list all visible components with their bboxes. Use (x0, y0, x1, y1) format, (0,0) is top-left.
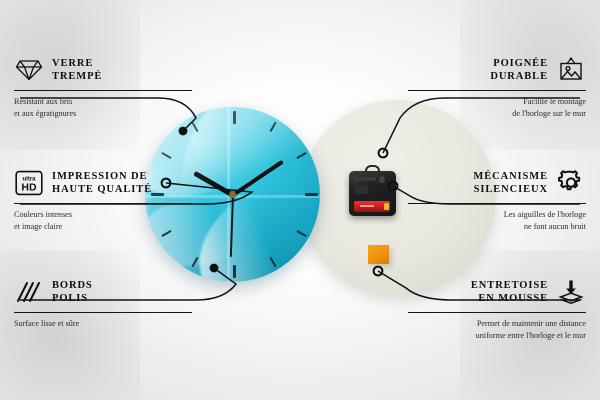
feature-title: POIGNÉE DURABLE (490, 57, 548, 83)
feature-mecanisme-silencieux: MÉCANISME SILENCIEUX Les aiguilles de l'… (408, 168, 586, 232)
foam-spacer (368, 245, 389, 264)
feature-impression-haute-qualite: ultra HD IMPRESSION DE HAUTE QUALITÉ Cou… (14, 168, 192, 232)
feature-header: POIGNÉE DURABLE (408, 55, 586, 85)
feature-header: VERRE TREMPÉ (14, 55, 192, 85)
feature-description: Les aiguilles de l'horloge ne font aucun… (408, 209, 586, 232)
battery-positive-terminal (384, 203, 389, 210)
feature-title: IMPRESSION DE HAUTE QUALITÉ (52, 170, 152, 196)
feature-divider (408, 90, 586, 91)
clock-movement (349, 171, 396, 216)
feature-poignee-durable: POIGNÉE DURABLE Facilite le montage de l… (408, 55, 586, 119)
battery (354, 201, 390, 212)
polished-edges-icon (14, 277, 44, 307)
feature-divider (408, 203, 586, 204)
ultra-hd-badge-icon: ultra HD (14, 168, 44, 198)
movement-detail (379, 176, 385, 183)
diamond-icon (14, 55, 44, 85)
feature-title: MÉCANISME SILENCIEUX (473, 170, 548, 196)
feature-header: BORDS POLIS (14, 277, 192, 307)
movement-detail (354, 177, 376, 181)
picture-frame-hanger-icon (556, 55, 586, 85)
feature-entretoise-en-mousse: ENTRETOISE EN MOUSSE Permet de maintenir… (408, 277, 586, 341)
feature-header: MÉCANISME SILENCIEUX (408, 168, 586, 198)
feature-description: Permet de maintenir une distance uniform… (408, 318, 586, 341)
feature-title: BORDS POLIS (52, 279, 93, 305)
feature-bords-polis: BORDS POLIS Surface lisse et sûre (14, 277, 192, 330)
foam-spacer-arrow-icon (556, 277, 586, 307)
battery-label (360, 205, 374, 207)
feature-divider (14, 90, 192, 91)
feature-verre-trempe: VERRE TREMPÉ Résistant aux bris et aux é… (14, 55, 192, 119)
feature-title: VERRE TREMPÉ (52, 57, 102, 83)
feature-divider (14, 203, 192, 204)
feature-header: ENTRETOISE EN MOUSSE (408, 277, 586, 307)
feature-divider (14, 312, 192, 313)
feature-title: ENTRETOISE EN MOUSSE (471, 279, 548, 305)
infographic-canvas: VERRE TREMPÉ Résistant aux bris et aux é… (0, 0, 600, 400)
feature-description: Facilite le montage de l'horloge sur le … (408, 96, 586, 119)
movement-body (349, 171, 396, 216)
feature-divider (408, 312, 586, 313)
feature-header: ultra HD IMPRESSION DE HAUTE QUALITÉ (14, 168, 192, 198)
feature-description: Surface lisse et sûre (14, 318, 192, 329)
feature-description: Couleurs intenses et image claire (14, 209, 192, 232)
svg-text:HD: HD (21, 182, 37, 194)
feature-description: Résistant aux bris et aux égratignures (14, 96, 192, 119)
gear-icon (556, 168, 586, 198)
movement-detail (355, 185, 368, 194)
